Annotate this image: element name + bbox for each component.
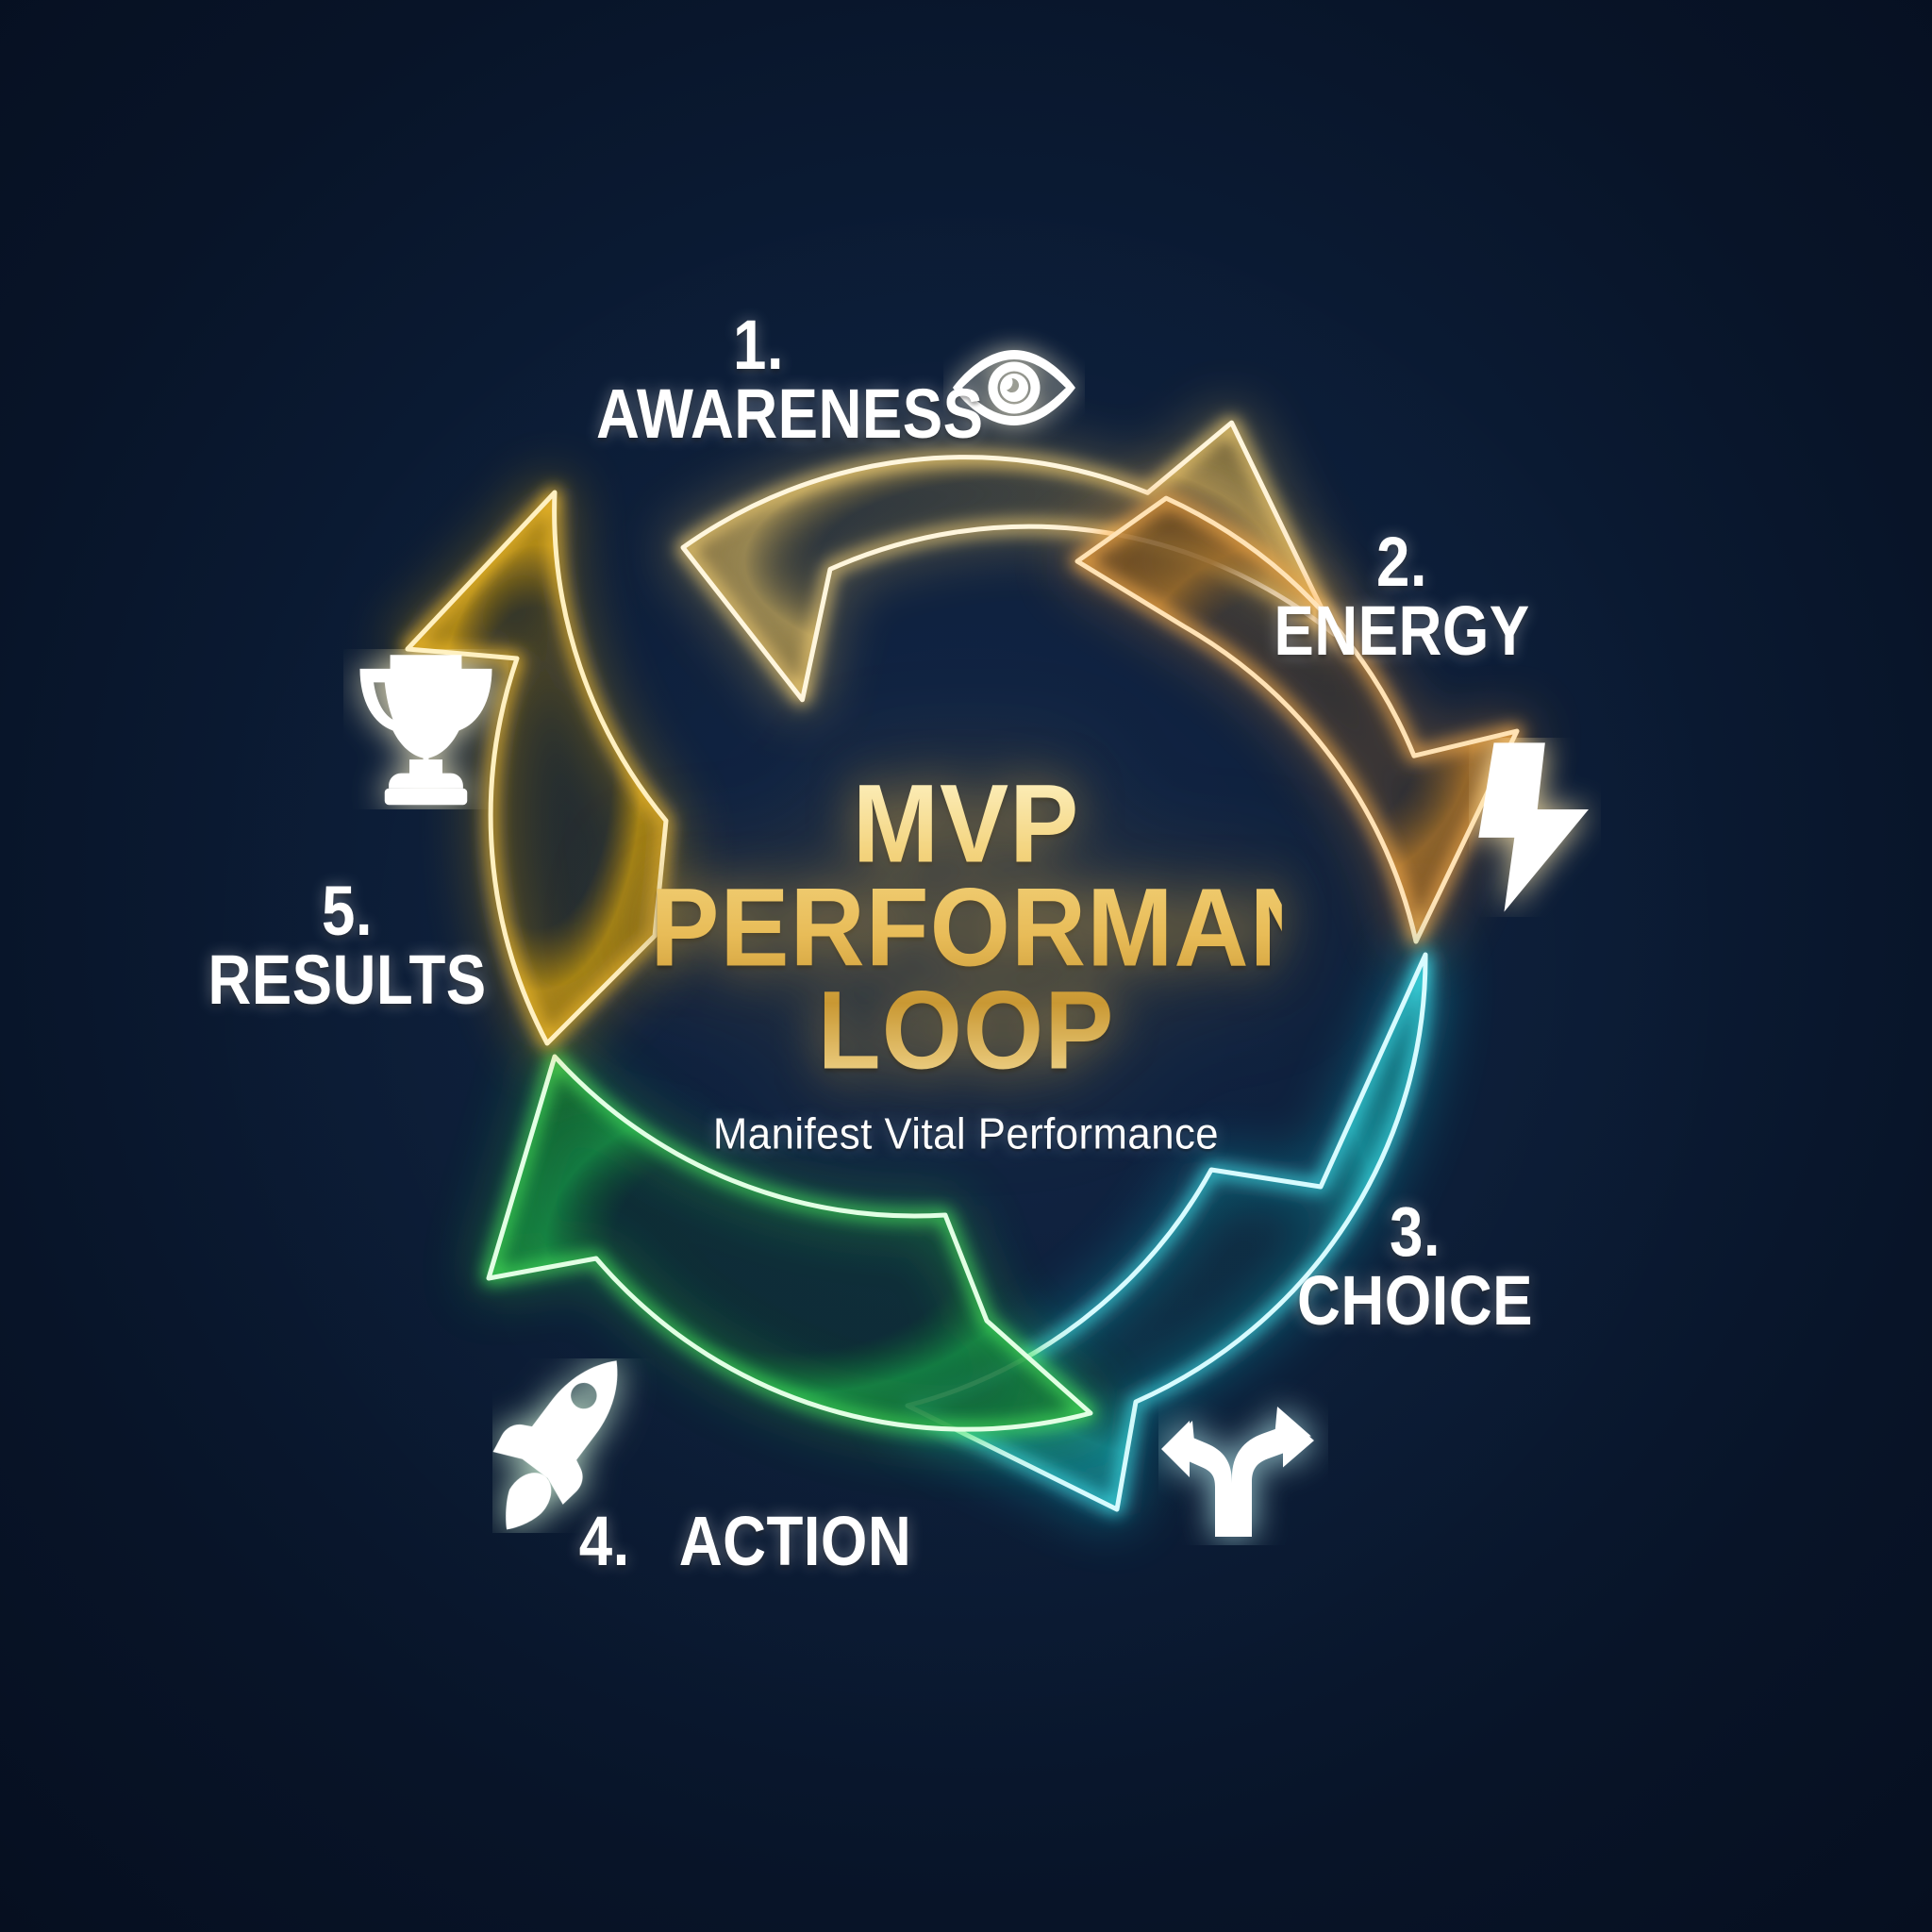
arrow-segment-action[interactable] <box>489 1057 1091 1429</box>
cycle-diagram-svg <box>0 0 1932 1932</box>
arrow-segment-results[interactable] <box>408 492 666 1043</box>
diagram-canvas: 1. AWARENESS 2. ENERGY 3. CHOICE 4. ACTI… <box>0 0 1932 1932</box>
